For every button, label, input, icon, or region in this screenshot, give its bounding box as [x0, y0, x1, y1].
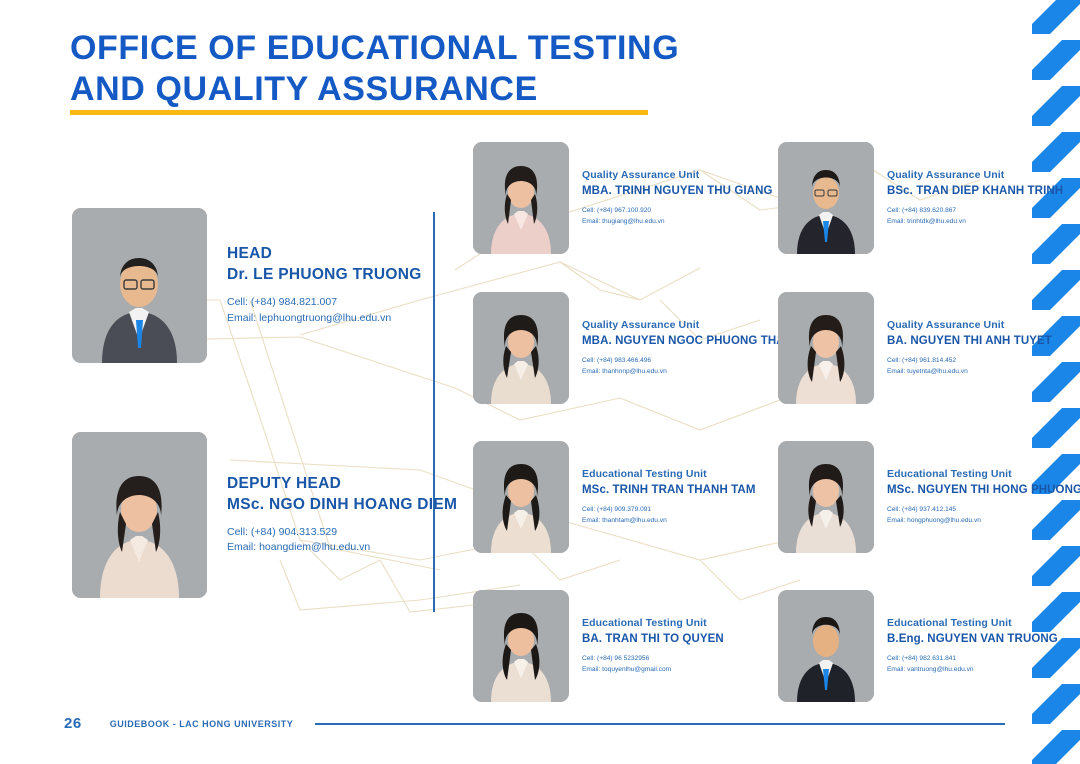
- staff-email: Email: thugiang@lhu.edu.vn: [582, 217, 773, 228]
- leader-name: MSc. NGO DINH HOANG DIEM: [227, 495, 457, 516]
- avatar: [778, 142, 874, 254]
- staff-email: Email: trinhtdk@lhu.edu.vn: [887, 217, 1063, 228]
- staff-details: Educational Testing Unit MSc. TRINH TRAN…: [582, 467, 756, 527]
- page-title-line-2: AND QUALITY ASSURANCE: [70, 69, 679, 110]
- staff-unit: Quality Assurance Unit: [582, 318, 802, 333]
- staff-details: Educational Testing Unit BA. TRAN THI TO…: [582, 616, 724, 676]
- staff-unit: Educational Testing Unit: [887, 616, 1058, 631]
- staff-email: Email: hongphuong@lhu.edu.vn: [887, 516, 1080, 527]
- page-title: OFFICE OF EDUCATIONAL TESTING AND QUALIT…: [70, 28, 679, 111]
- leader-card-deputy-head: DEPUTY HEAD MSc. NGO DINH HOANG DIEM Cel…: [72, 432, 457, 598]
- staff-unit: Quality Assurance Unit: [582, 168, 773, 183]
- staff-cell: Cell: (+84) 982.631.841: [887, 654, 1058, 665]
- staff-contact: Cell: (+84) 96 5232956 Email: toquyenlhu…: [582, 654, 724, 676]
- avatar: [473, 142, 569, 254]
- staff-details: Educational Testing Unit B.Eng. NGUYEN V…: [887, 616, 1058, 676]
- avatar: [72, 432, 207, 598]
- staff-cell: Cell: (+84) 937.412.145: [887, 505, 1080, 516]
- avatar: [778, 292, 874, 404]
- leader-details: DEPUTY HEAD MSc. NGO DINH HOANG DIEM Cel…: [227, 474, 457, 556]
- staff-card: Quality Assurance Unit MBA. NGUYEN NGOC …: [473, 292, 802, 404]
- leader-email: Email: lephuongtruong@lhu.edu.vn: [227, 311, 422, 327]
- staff-unit: Quality Assurance Unit: [887, 318, 1052, 333]
- leader-contact: Cell: (+84) 984.821.007 Email: lephuongt…: [227, 295, 422, 327]
- staff-card: Educational Testing Unit B.Eng. NGUYEN V…: [778, 590, 1058, 702]
- title-underline-rule: [70, 110, 648, 115]
- staff-details: Quality Assurance Unit BA. NGUYEN THI AN…: [887, 318, 1052, 378]
- staff-email: Email: vantruong@lhu.edu.vn: [887, 665, 1058, 676]
- leader-contact: Cell: (+84) 904.313.529 Email: hoangdiem…: [227, 525, 457, 557]
- staff-cell: Cell: (+84) 967.100.920: [582, 206, 773, 217]
- avatar: [473, 590, 569, 702]
- staff-name: MSc. NGUYEN THI HONG PHUONG: [887, 482, 1080, 498]
- staff-unit: Quality Assurance Unit: [887, 168, 1063, 183]
- staff-details: Quality Assurance Unit BSc. TRAN DIEP KH…: [887, 168, 1063, 228]
- avatar: [473, 292, 569, 404]
- avatar: [778, 441, 874, 553]
- avatar: [473, 441, 569, 553]
- page-number: 26: [64, 715, 82, 732]
- staff-cell: Cell: (+84) 961.814.452: [887, 356, 1052, 367]
- staff-card: Educational Testing Unit MSc. TRINH TRAN…: [473, 441, 756, 553]
- staff-card: Quality Assurance Unit BSc. TRAN DIEP KH…: [778, 142, 1063, 254]
- staff-cell: Cell: (+84) 983.466.496: [582, 356, 802, 367]
- staff-contact: Cell: (+84) 982.631.841 Email: vantruong…: [887, 654, 1058, 676]
- leader-cell: Cell: (+84) 984.821.007: [227, 295, 422, 311]
- page-title-line-1: OFFICE OF EDUCATIONAL TESTING: [70, 28, 679, 69]
- staff-contact: Cell: (+84) 961.814.452 Email: tuyetnta@…: [887, 356, 1052, 378]
- staff-card: Quality Assurance Unit MBA. TRINH NGUYEN…: [473, 142, 773, 254]
- staff-name: MBA. NGUYEN NGOC PHUONG THANH: [582, 333, 802, 349]
- footer-label: GUIDEBOOK - LAC HONG UNIVERSITY: [110, 719, 294, 729]
- page-footer: 26 GUIDEBOOK - LAC HONG UNIVERSITY: [64, 715, 1005, 732]
- leader-role: DEPUTY HEAD: [227, 474, 457, 495]
- staff-email: Email: thanhtam@lhu.edu.vn: [582, 516, 756, 527]
- leader-cell: Cell: (+84) 904.313.529: [227, 525, 457, 541]
- staff-contact: Cell: (+84) 839.620.867 Email: trinhtdk@…: [887, 206, 1063, 228]
- staff-details: Educational Testing Unit MSc. NGUYEN THI…: [887, 467, 1080, 527]
- staff-card: Educational Testing Unit BA. TRAN THI TO…: [473, 590, 724, 702]
- staff-name: BA. TRAN THI TO QUYEN: [582, 631, 724, 647]
- staff-contact: Cell: (+84) 937.412.145 Email: hongphuon…: [887, 505, 1080, 527]
- leader-email: Email: hoangdiem@lhu.edu.vn: [227, 540, 457, 556]
- staff-name: BSc. TRAN DIEP KHANH TRINH: [887, 183, 1063, 199]
- staff-unit: Educational Testing Unit: [582, 467, 756, 482]
- staff-card: Quality Assurance Unit BA. NGUYEN THI AN…: [778, 292, 1052, 404]
- staff-cell: Cell: (+84) 909.379.091: [582, 505, 756, 516]
- staff-details: Quality Assurance Unit MBA. TRINH NGUYEN…: [582, 168, 773, 228]
- leader-name: Dr. LE PHUONG TRUONG: [227, 265, 422, 286]
- staff-name: B.Eng. NGUYEN VAN TRUONG: [887, 631, 1058, 647]
- staff-card: Educational Testing Unit MSc. NGUYEN THI…: [778, 441, 1080, 553]
- staff-details: Quality Assurance Unit MBA. NGUYEN NGOC …: [582, 318, 802, 378]
- leader-details: HEAD Dr. LE PHUONG TRUONG Cell: (+84) 98…: [227, 244, 422, 326]
- staff-contact: Cell: (+84) 909.379.091 Email: thanhtam@…: [582, 505, 756, 527]
- staff-unit: Educational Testing Unit: [887, 467, 1080, 482]
- avatar: [778, 590, 874, 702]
- avatar: [72, 208, 207, 363]
- staff-email: Email: tuyetnta@lhu.edu.vn: [887, 367, 1052, 378]
- leader-card-head: HEAD Dr. LE PHUONG TRUONG Cell: (+84) 98…: [72, 208, 422, 363]
- staff-email: Email: thanhnnp@lhu.edu.vn: [582, 367, 802, 378]
- guidebook-page: OFFICE OF EDUCATIONAL TESTING AND QUALIT…: [0, 0, 1080, 764]
- staff-name: BA. NGUYEN THI ANH TUYET: [887, 333, 1052, 349]
- staff-contact: Cell: (+84) 967.100.920 Email: thugiang@…: [582, 206, 773, 228]
- footer-rule: [315, 723, 1005, 725]
- leader-role: HEAD: [227, 244, 422, 265]
- staff-cell: Cell: (+84) 839.620.867: [887, 206, 1063, 217]
- staff-contact: Cell: (+84) 983.466.496 Email: thanhnnp@…: [582, 356, 802, 378]
- staff-unit: Educational Testing Unit: [582, 616, 724, 631]
- staff-name: MBA. TRINH NGUYEN THU GIANG: [582, 183, 773, 199]
- staff-email: Email: toquyenlhu@gmail.com: [582, 665, 724, 676]
- staff-cell: Cell: (+84) 96 5232956: [582, 654, 724, 665]
- staff-name: MSc. TRINH TRAN THANH TAM: [582, 482, 756, 498]
